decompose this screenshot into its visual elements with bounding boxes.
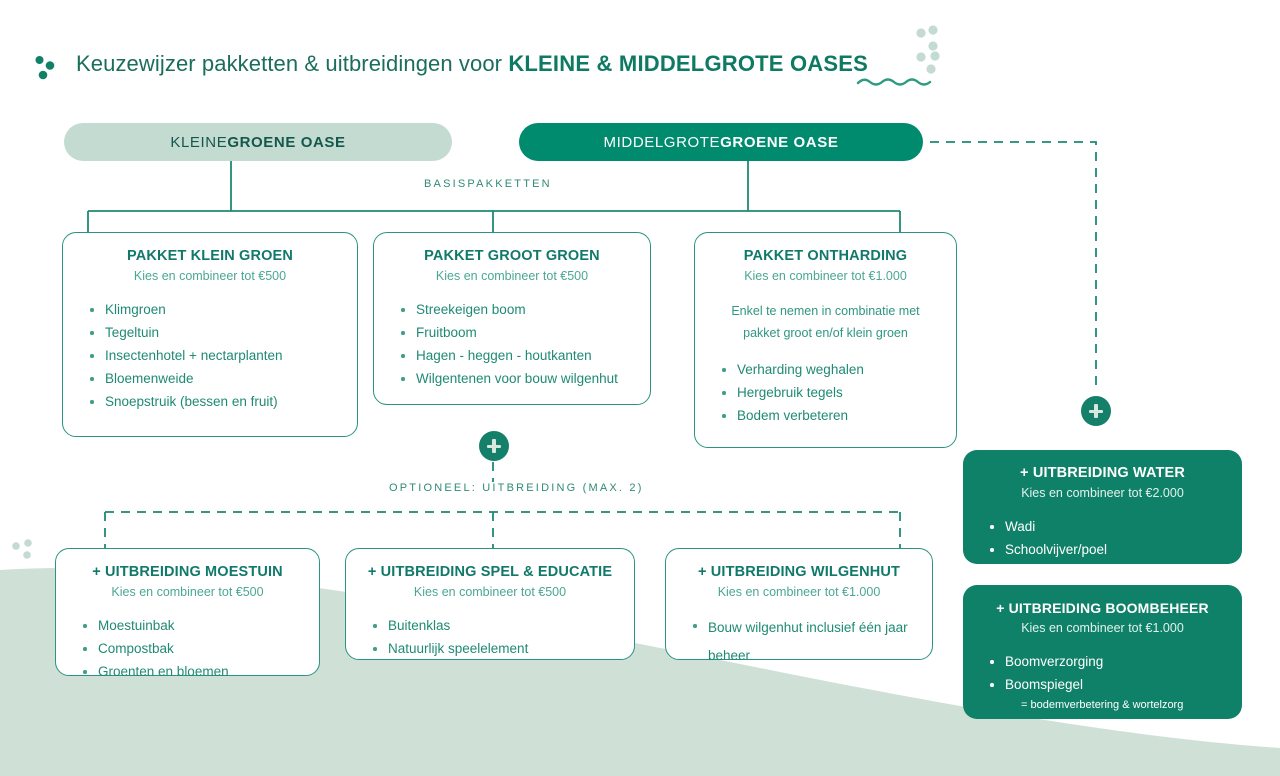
card-item-list: Buitenklas Natuurlijk speelelement bbox=[362, 614, 618, 660]
card-subtitle: Kies en combineer tot €1.000 bbox=[682, 584, 916, 600]
card-subtitle: Kies en combineer tot €1.000 bbox=[711, 268, 940, 284]
card-subtitle: Kies en combineer tot €2.000 bbox=[979, 485, 1226, 501]
card-subtitle: Kies en combineer tot €500 bbox=[79, 268, 341, 284]
card-uitbreiding-boombeheer[interactable]: + UITBREIDING BOOMBEHEER Kies en combine… bbox=[963, 585, 1242, 719]
card-title: PAKKET GROOT GROEN bbox=[390, 247, 634, 265]
card-title: + UITBREIDING BOOMBEHEER bbox=[979, 599, 1226, 617]
card-uitbreiding-water[interactable]: + UITBREIDING WATER Kies en combineer to… bbox=[963, 450, 1242, 564]
card-title: + UITBREIDING SPEL & EDUCATIE bbox=[362, 563, 618, 581]
list-item: Wilgentenen voor bouw wilgenhut bbox=[390, 367, 634, 390]
list-item: Klimgroen bbox=[79, 298, 341, 321]
list-item: Boomverzorging bbox=[979, 650, 1226, 673]
list-item: Bouw wilgenhut inclusief één jaar beheer bbox=[682, 614, 916, 670]
card-title: PAKKET KLEIN GROEN bbox=[79, 247, 341, 265]
list-item: Hergebruik tegels bbox=[711, 381, 940, 404]
list-item: Snoepstruik (bessen en fruit) bbox=[79, 390, 341, 413]
pill-kleine-bold: GROENE OASE bbox=[227, 134, 345, 151]
card-note: Enkel te nemen in combinatie met pakket … bbox=[711, 300, 940, 344]
list-item: Schoolvijver/poel bbox=[979, 538, 1226, 561]
list-item: Natuurlijk speelelement bbox=[362, 637, 618, 660]
card-title: + UITBREIDING WILGENHUT bbox=[682, 563, 916, 581]
card-title: + UITBREIDING WATER bbox=[979, 464, 1226, 482]
list-item: Wadi bbox=[979, 515, 1226, 538]
card-item-list: Wadi Schoolvijver/poel bbox=[979, 515, 1226, 561]
label-optioneel-uitbreiding: OPTIONEEL: UITBREIDING (MAX. 2) bbox=[389, 482, 644, 494]
card-uitbreiding-wilgenhut[interactable]: + UITBREIDING WILGENHUT Kies en combinee… bbox=[665, 548, 933, 660]
card-item-list: Bouw wilgenhut inclusief één jaar beheer bbox=[682, 614, 916, 670]
list-item: Boomspiegelbodemverbetering & wortelzorg bbox=[979, 673, 1226, 714]
card-pakket-klein-groen[interactable]: PAKKET KLEIN GROEN Kies en combineer tot… bbox=[62, 232, 358, 437]
page-title: Keuzewijzer pakketten & uitbreidingen vo… bbox=[30, 48, 990, 92]
card-title: + UITBREIDING MOESTUIN bbox=[72, 563, 303, 581]
title-prefix: Keuzewijzer pakketten & uitbreidingen vo… bbox=[76, 51, 508, 76]
plus-icon-right[interactable] bbox=[1081, 396, 1111, 426]
card-note-line2: pakket groot en/of klein groen bbox=[711, 322, 940, 344]
card-item-list: Moestuinbak Compostbak Groenten en bloem… bbox=[72, 614, 303, 683]
pill-kleine-prefix: KLEINE bbox=[170, 134, 227, 151]
card-subtitle: Kies en combineer tot €500 bbox=[362, 584, 618, 600]
dots-decoration-left bbox=[10, 538, 40, 564]
pill-middelgrote-groene-oase[interactable]: MIDDELGROTE GROENE OASE bbox=[519, 123, 923, 161]
card-subtitle: Kies en combineer tot €500 bbox=[72, 584, 303, 600]
list-item-label: Boomspiegel bbox=[1005, 677, 1083, 692]
title-emphasis: KLEINE & MIDDELGROTE OASES bbox=[508, 51, 868, 76]
list-item: Buitenklas bbox=[362, 614, 618, 637]
pill-kleine-groene-oase[interactable]: KLEINE GROENE OASE bbox=[64, 123, 452, 161]
list-item-note: bodemverbetering & wortelzorg bbox=[1005, 696, 1226, 714]
pill-middelgrote-prefix: MIDDELGROTE bbox=[604, 134, 721, 151]
card-uitbreiding-moestuin[interactable]: + UITBREIDING MOESTUIN Kies en combineer… bbox=[55, 548, 320, 676]
card-uitbreiding-spel-educatie[interactable]: + UITBREIDING SPEL & EDUCATIE Kies en co… bbox=[345, 548, 635, 660]
list-item: Insectenhotel + nectarplanten bbox=[79, 344, 341, 367]
pill-middelgrote-bold: GROENE OASE bbox=[720, 134, 838, 151]
title-text: Keuzewijzer pakketten & uitbreidingen vo… bbox=[76, 48, 868, 80]
list-item: Bodem verbeteren bbox=[711, 404, 940, 427]
card-note-line1: Enkel te nemen in combinatie met bbox=[711, 300, 940, 322]
list-item: Groenten en bloemen bbox=[72, 660, 303, 683]
card-pakket-ontharding[interactable]: PAKKET ONTHARDING Kies en combineer tot … bbox=[694, 232, 957, 448]
list-item: Moestuinbak bbox=[72, 614, 303, 637]
list-item-label: Boomverzorging bbox=[1005, 654, 1103, 669]
plus-icon-middle[interactable] bbox=[479, 431, 509, 461]
list-item: Compostbak bbox=[72, 637, 303, 660]
card-item-list: Streekeigen boom Fruitboom Hagen - hegge… bbox=[390, 298, 634, 390]
list-item: Verharding weghalen bbox=[711, 358, 940, 381]
card-pakket-groot-groen[interactable]: PAKKET GROOT GROEN Kies en combineer tot… bbox=[373, 232, 651, 405]
card-subtitle: Kies en combineer tot €1.000 bbox=[979, 620, 1226, 636]
card-item-list: Klimgroen Tegeltuin Insectenhotel + nect… bbox=[79, 298, 341, 413]
three-dots-icon bbox=[34, 54, 58, 84]
list-item: Fruitboom bbox=[390, 321, 634, 344]
list-item: Streekeigen boom bbox=[390, 298, 634, 321]
label-basispakketten: BASISPAKKETTEN bbox=[424, 178, 552, 190]
card-item-list: Verharding weghalen Hergebruik tegels Bo… bbox=[711, 358, 940, 427]
list-item: Hagen - heggen - houtkanten bbox=[390, 344, 634, 367]
list-item: Tegeltuin bbox=[79, 321, 341, 344]
squiggle-underline-icon bbox=[856, 76, 932, 88]
card-subtitle: Kies en combineer tot €500 bbox=[390, 268, 634, 284]
card-item-list: Boomverzorging Boomspiegelbodemverbeteri… bbox=[979, 650, 1226, 714]
card-title: PAKKET ONTHARDING bbox=[711, 247, 940, 265]
list-item: Bloemenweide bbox=[79, 367, 341, 390]
